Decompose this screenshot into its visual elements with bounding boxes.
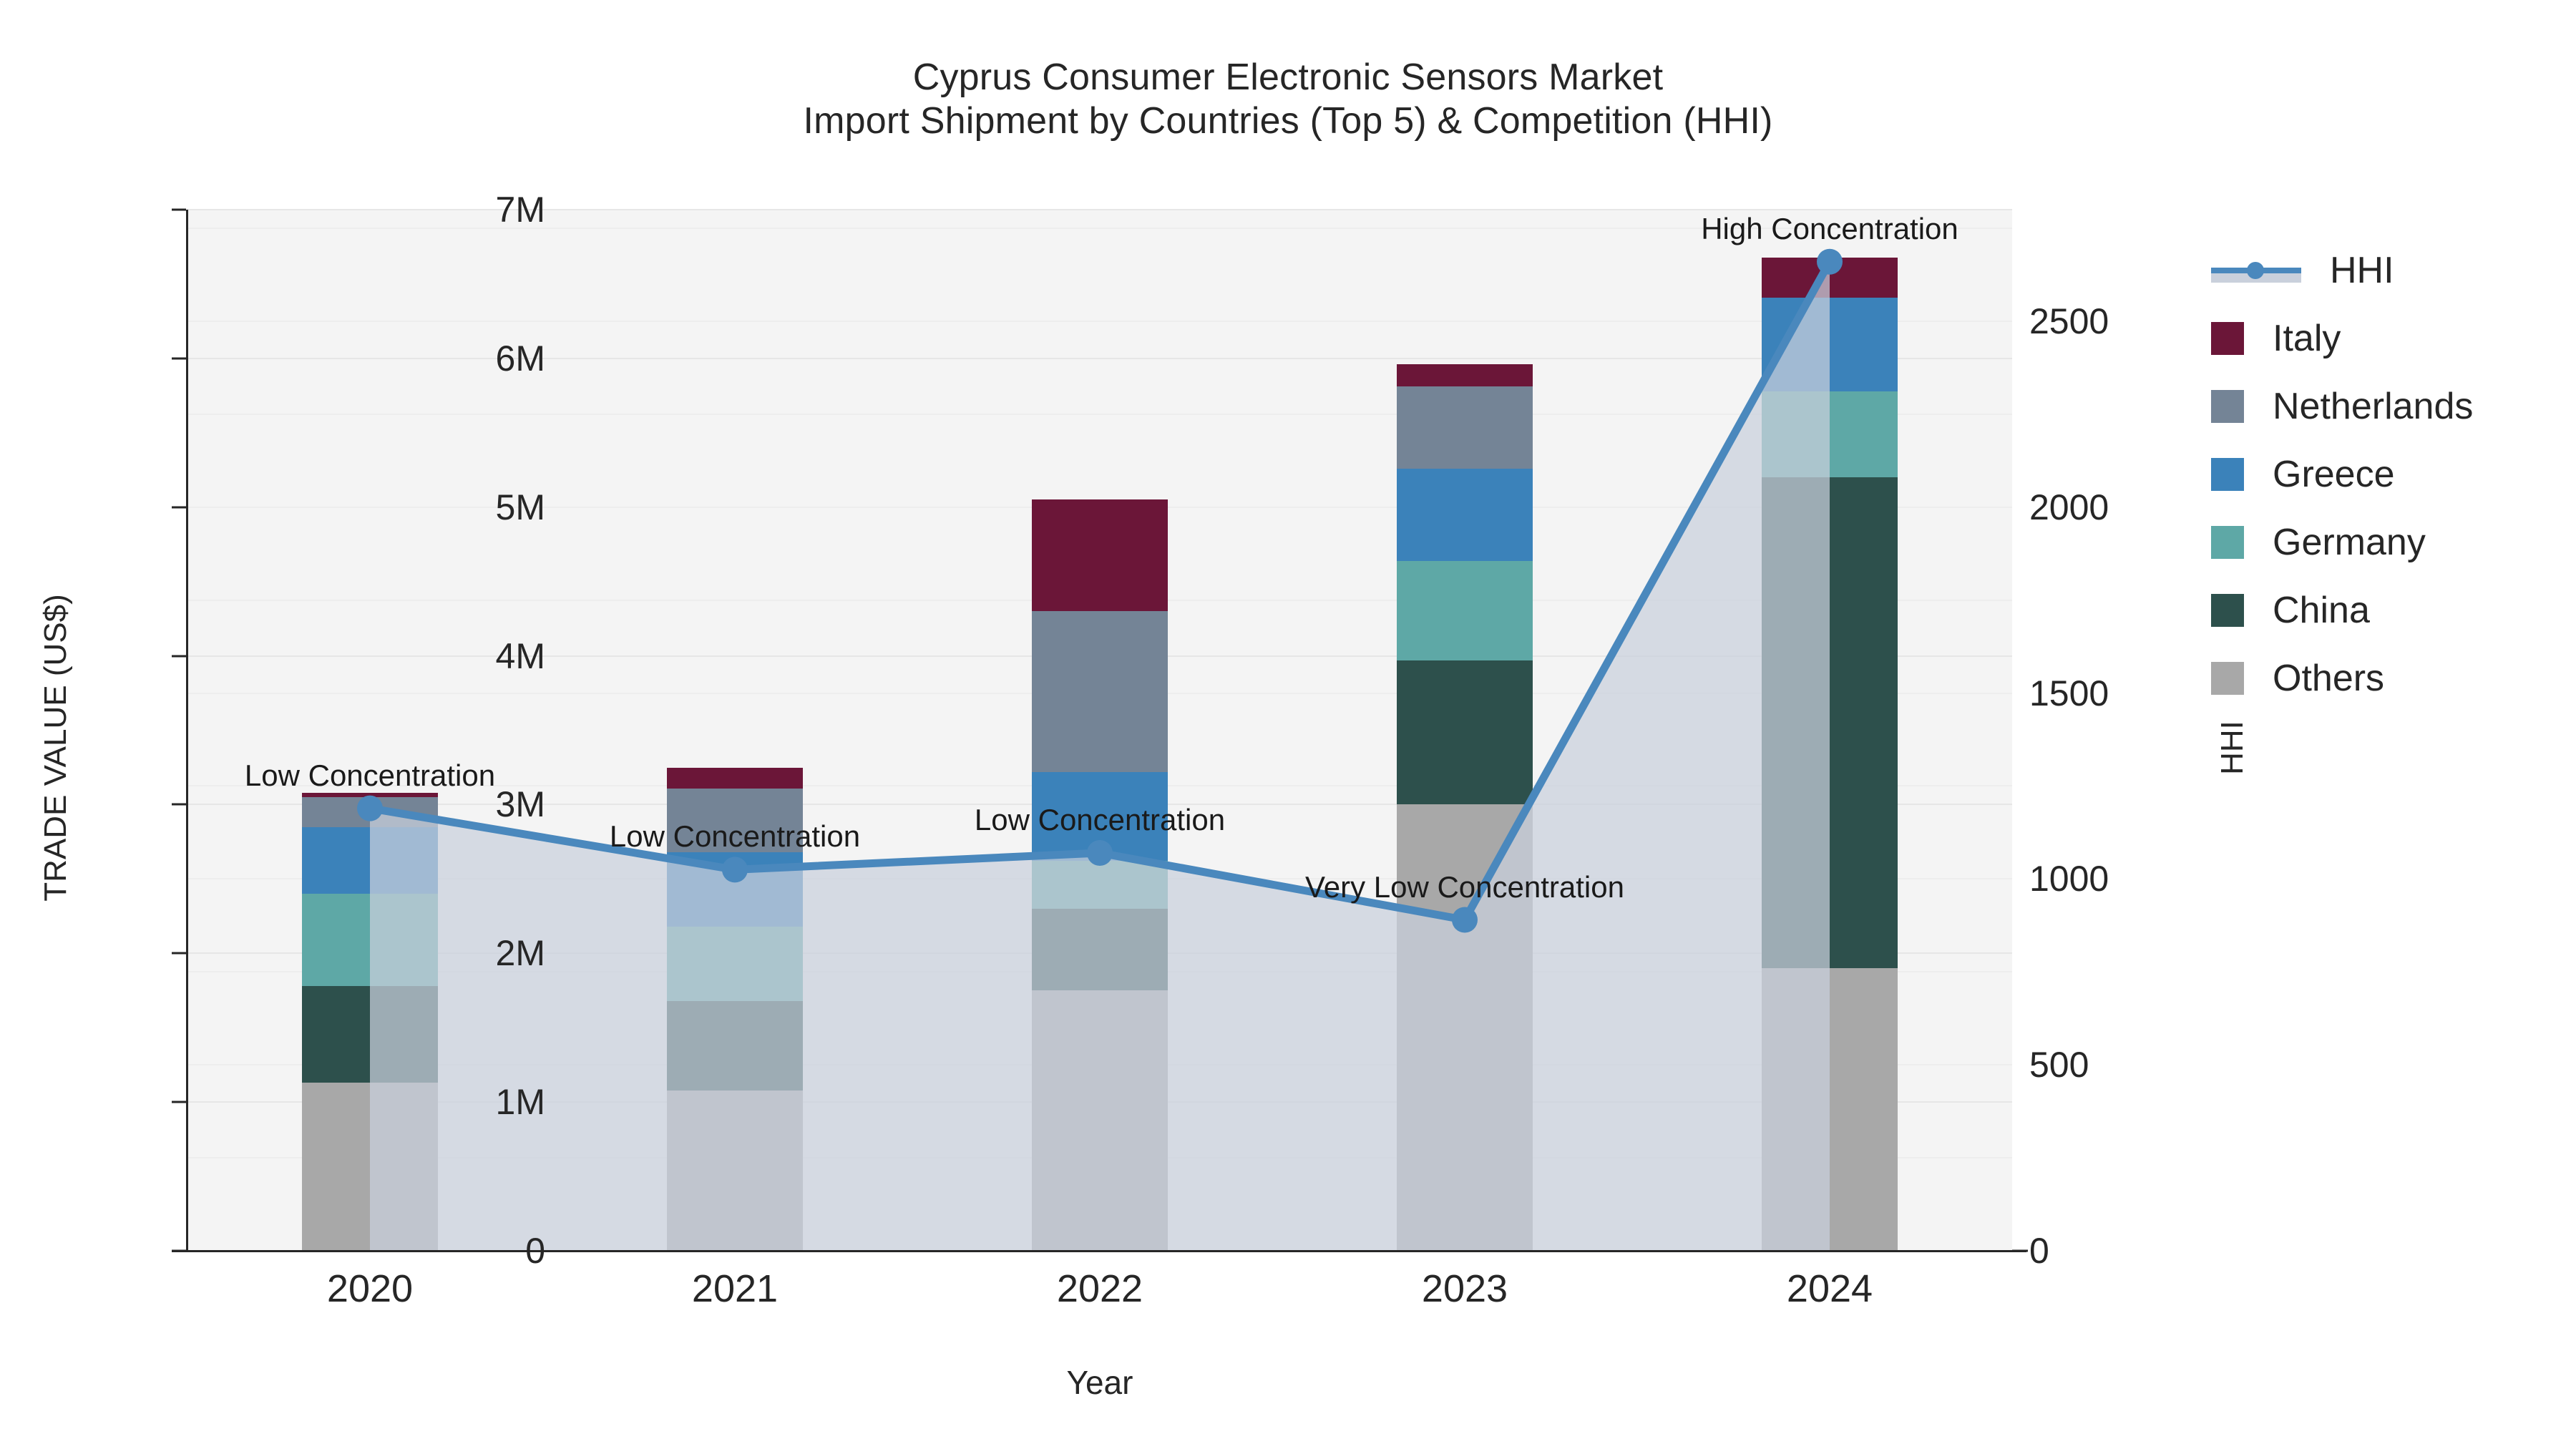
y-axis-left-tick-label: 2M: [381, 932, 545, 974]
legend-item-greece[interactable]: Greece: [2211, 440, 2473, 508]
hhi-area-fill: [370, 262, 1830, 1251]
legend-swatch-netherlands: [2211, 390, 2244, 423]
y-axis-left-tickmark: [172, 804, 186, 806]
y-axis-left-tick-label: 5M: [381, 487, 545, 528]
y-axis-right-tick-label: 2000: [2029, 487, 2215, 528]
legend-swatch-others: [2211, 662, 2244, 695]
legend-label: Greece: [2273, 456, 2395, 493]
legend-swatch-germany: [2211, 526, 2244, 559]
chart-title-line-2: Import Shipment by Countries (Top 5) & C…: [0, 99, 2576, 143]
legend-item-others[interactable]: Others: [2211, 644, 2473, 712]
y-axis-left-tickmark: [172, 1250, 186, 1252]
y-axis-left-tick-label: 7M: [381, 189, 545, 230]
y-axis-right-tick-label: 1000: [2029, 858, 2215, 899]
chart-figure: Cyprus Consumer Electronic Sensors Marke…: [0, 0, 2576, 1449]
y-axis-left-title: TRADE VALUE (US$): [38, 462, 74, 1034]
legend-item-germany[interactable]: Germany: [2211, 508, 2473, 576]
hhi-marker-2022[interactable]: [1087, 840, 1113, 866]
y-axis-left-tickmark: [172, 506, 186, 508]
y-axis-right-tickmark: [2012, 1250, 2028, 1252]
legend-label: China: [2273, 592, 2370, 629]
y-axis-left-tickmark: [172, 1101, 186, 1103]
legend-swatch-china: [2211, 594, 2244, 627]
y-axis-left-tick-label: 0: [381, 1230, 545, 1272]
y-axis-left-tickmark: [172, 357, 186, 359]
hhi-marker-2021[interactable]: [722, 857, 748, 882]
legend-marker-dot: [2247, 262, 2264, 279]
legend-swatch-italy: [2211, 322, 2244, 355]
x-axis-tick-label-2022: 2022: [1057, 1267, 1143, 1311]
y-axis-left-tick-label: 4M: [381, 635, 545, 677]
y-axis-right-tick-label: 2500: [2029, 301, 2215, 342]
y-axis-right-tick-label: 0: [2029, 1230, 2215, 1272]
hhi-marker-2024[interactable]: [1817, 249, 1843, 275]
x-axis-title: Year: [187, 1363, 2012, 1402]
legend-label: Others: [2273, 660, 2384, 697]
y-axis-left-tickmark: [172, 655, 186, 657]
x-axis-tick-label-2024: 2024: [1787, 1267, 1873, 1311]
y-axis-right-tick-label: 500: [2029, 1044, 2215, 1085]
annotation-2020: Low Concentration: [245, 758, 495, 793]
legend-label: Italy: [2273, 320, 2341, 357]
x-axis-tick-label-2023: 2023: [1422, 1267, 1508, 1311]
legend-item-netherlands[interactable]: Netherlands: [2211, 372, 2473, 440]
legend-swatch-greece: [2211, 458, 2244, 491]
legend-item-hhi[interactable]: HHI: [2211, 236, 2473, 304]
annotation-2023: Very Low Concentration: [1305, 870, 1624, 904]
chart-legend: HHIItalyNetherlandsGreeceGermanyChinaOth…: [2211, 236, 2473, 712]
annotation-2022: Low Concentration: [975, 803, 1225, 837]
legend-label: HHI: [2330, 252, 2394, 289]
y-axis-left-tickmark: [172, 209, 186, 211]
chart-title: Cyprus Consumer Electronic Sensors Marke…: [0, 56, 2576, 144]
legend-line-icon: [2211, 254, 2301, 287]
annotation-2021: Low Concentration: [610, 819, 860, 854]
legend-label: Germany: [2273, 524, 2426, 561]
legend-label: Netherlands: [2273, 388, 2473, 425]
y-axis-left-tick-label: 1M: [381, 1081, 545, 1123]
chart-title-line-1: Cyprus Consumer Electronic Sensors Marke…: [0, 56, 2576, 99]
annotation-2024: High Concentration: [1701, 212, 1958, 246]
legend-item-italy[interactable]: Italy: [2211, 304, 2473, 372]
hhi-marker-2023[interactable]: [1452, 907, 1478, 933]
y-axis-left-spine: [186, 210, 188, 1251]
y-axis-right-tick-label: 1500: [2029, 673, 2215, 714]
hhi-marker-2020[interactable]: [357, 796, 383, 821]
x-axis-tick-label-2020: 2020: [327, 1267, 413, 1311]
y-axis-left-tick-label: 6M: [381, 338, 545, 379]
legend-item-china[interactable]: China: [2211, 576, 2473, 644]
y-axis-left-tickmark: [172, 952, 186, 955]
x-axis-tick-label-2021: 2021: [692, 1267, 778, 1311]
